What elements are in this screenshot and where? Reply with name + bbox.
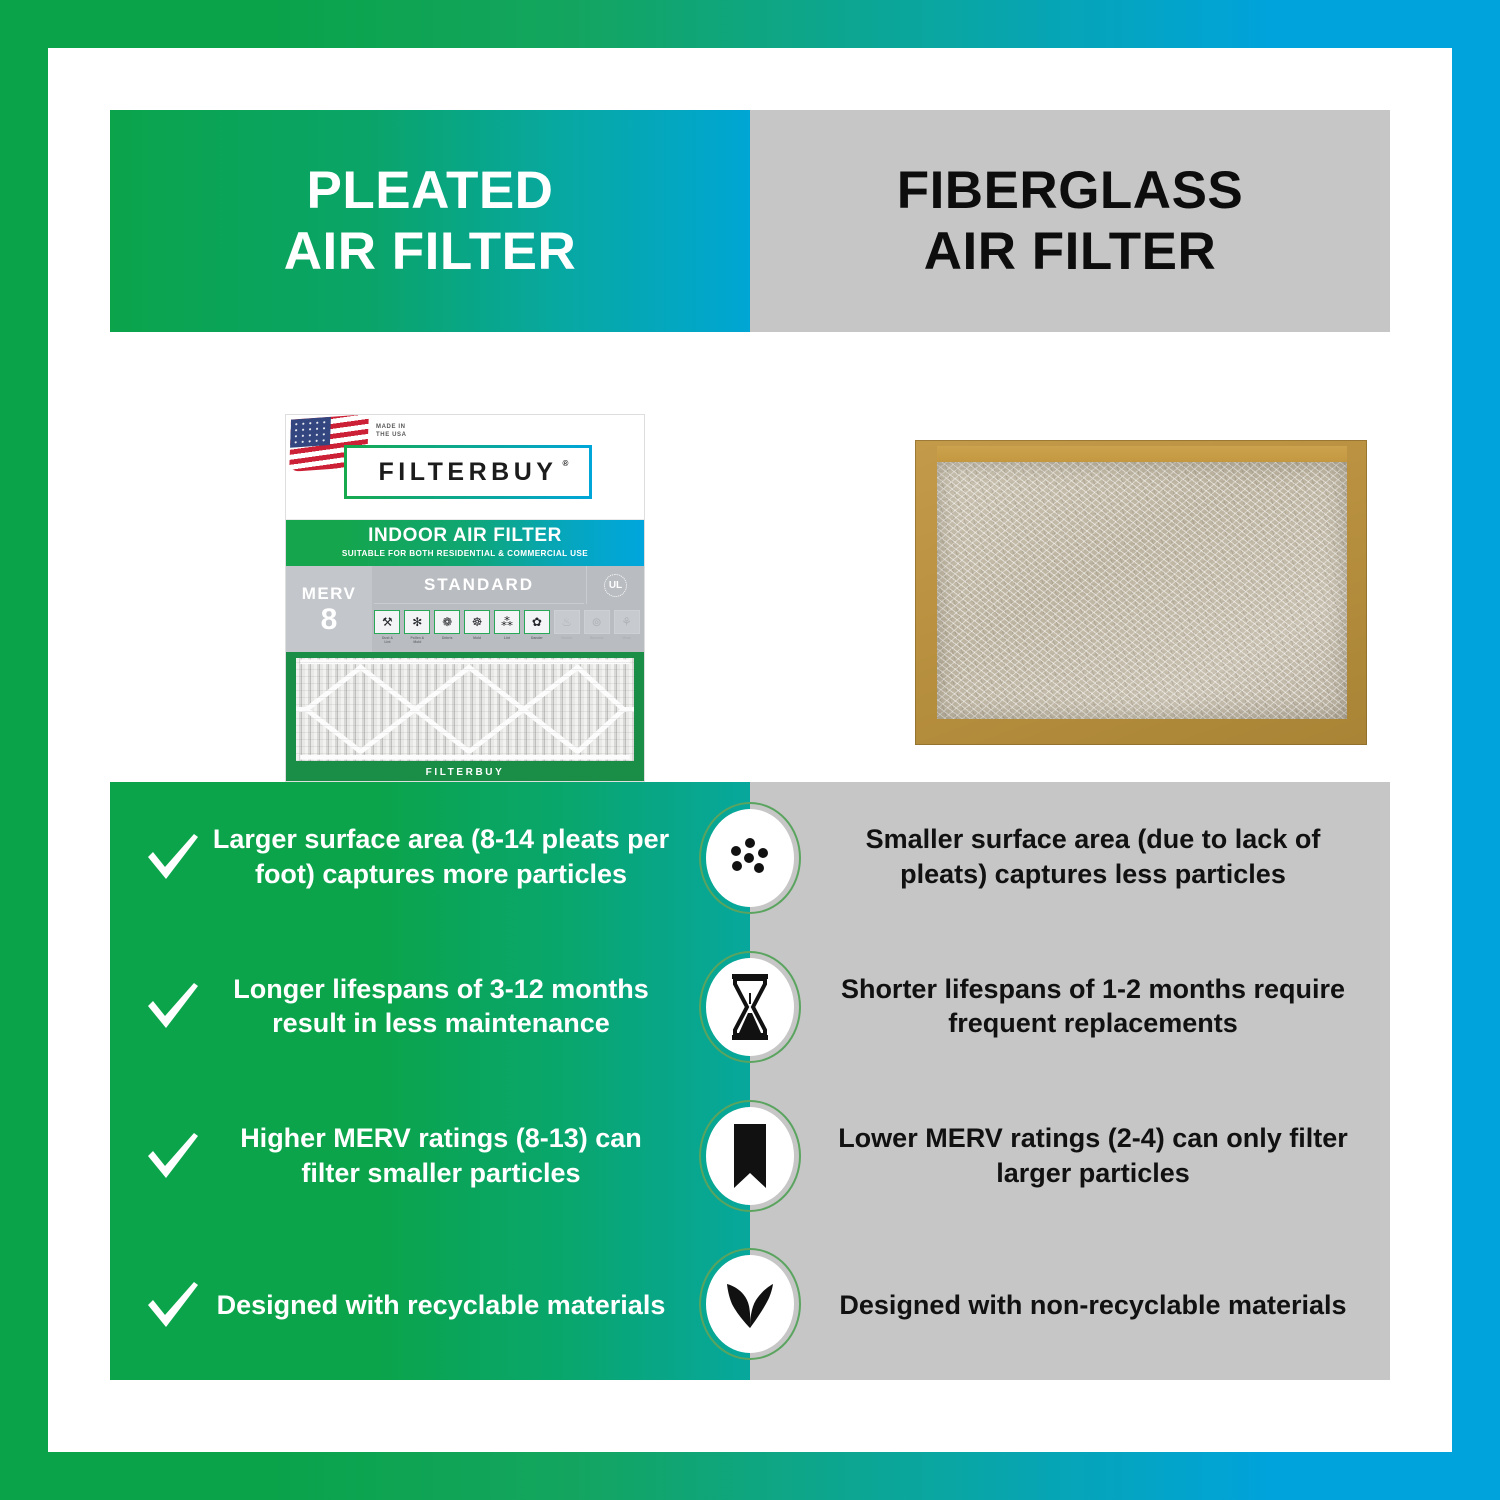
check-glyph (140, 1124, 204, 1188)
merv-label: MERV (302, 584, 356, 604)
virus-icon: ⚘ (614, 610, 640, 634)
registered-mark: ® (563, 459, 569, 468)
ul-certification-cell: UL (586, 566, 644, 604)
pleated-filter-card: MADE IN THE USA FILTERBUY® INDOOR AIR FI… (285, 414, 645, 782)
capability-caption: Dander (531, 636, 543, 640)
capability-caption: Dust & Lint (382, 636, 393, 645)
benefits-comparison: Larger surface area (8-14 pleats per foo… (110, 782, 1390, 1380)
header-fiberglass-title: FIBERGLASS AIR FILTER (897, 160, 1244, 283)
smoke-icon: ♨ (554, 610, 580, 634)
ul-listed-icon: UL (604, 574, 627, 597)
dust-mites-icon: ⁂ (494, 610, 520, 634)
capability-caption: Smoke (561, 636, 572, 640)
benefit-right-text: Smaller surface area (due to lack of ple… (830, 822, 1356, 891)
footer-brand-text: FILTERBUY (426, 767, 505, 778)
check-glyph (140, 825, 204, 889)
capability-caption: Bacteria (590, 636, 603, 640)
merv-value: 8 (321, 605, 338, 635)
check-icon (140, 1124, 204, 1188)
grade-label: STANDARD (424, 575, 534, 595)
capability-caption: Mold (473, 636, 481, 640)
bacteria-icon: ❁ (434, 610, 460, 634)
capability-item: ⁂ Lint (494, 610, 521, 640)
capability-item: ✻ Pollen & Mold (404, 610, 431, 645)
filterbuy-logo: FILTERBUY® (344, 445, 592, 499)
pleat-texture (296, 658, 634, 761)
benefit-row: Smaller surface area (due to lack of ple… (750, 782, 1390, 932)
fiberglass-media-texture (937, 462, 1347, 719)
fiberglass-filter-image (915, 440, 1367, 745)
bookmark-glyph (730, 1121, 770, 1191)
benefit-row: Larger surface area (8-14 pleats per foo… (110, 782, 750, 932)
pleated-footer-brand: FILTERBUY (286, 763, 644, 781)
benefit-right-text: Shorter lifespans of 1-2 months require … (830, 972, 1356, 1041)
benefit-row: Designed with non-recyclable materials (750, 1231, 1390, 1381)
capability-item: ♨ Smoke (553, 610, 580, 640)
infographic-root: PLEATED AIR FILTER FIBERGLASS AIR FILTER… (0, 0, 1500, 1500)
benefit-row: Longer lifespans of 3-12 months result i… (110, 932, 750, 1082)
benefit-left-text: Larger surface area (8-14 pleats per foo… (210, 822, 672, 891)
bacteria-virus-icon: ⊚ (584, 610, 610, 634)
capability-caption: Virus (622, 636, 630, 640)
capability-caption: Pollen & Mold (411, 636, 425, 645)
capability-caption: Debris (442, 636, 453, 640)
benefit-right-text: Lower MERV ratings (2-4) can only filter… (830, 1121, 1356, 1190)
filterbuy-wordmark: FILTERBUY® (379, 458, 558, 487)
benefit-right-text: Designed with non-recyclable materials (830, 1288, 1356, 1323)
support-wire-overlay (296, 658, 634, 761)
hourglass-icon (699, 951, 801, 1063)
header-pleated-panel: PLEATED AIR FILTER (110, 110, 750, 332)
check-icon (140, 974, 204, 1038)
leaf-recycle-icon (699, 1248, 801, 1360)
benefit-left-text: Longer lifespans of 3-12 months result i… (210, 972, 672, 1041)
benefit-row: Designed with recyclable materials (110, 1231, 750, 1381)
pet-dander-icon: ✿ (524, 610, 550, 634)
indoor-air-filter-band: INDOOR AIR FILTER SUITABLE FOR BOTH RESI… (286, 520, 644, 566)
benefit-left-text: Designed with recyclable materials (210, 1288, 672, 1323)
benefit-left-text: Higher MERV ratings (8-13) can filter sm… (210, 1121, 672, 1190)
capability-icon-strip: ⚒ Dust & Lint ✻ Pollen & Mold ❁ Debris (374, 608, 640, 650)
flag-canton (290, 417, 331, 448)
check-glyph (140, 1273, 204, 1337)
check-icon (140, 1273, 204, 1337)
pleated-card-top: MADE IN THE USA FILTERBUY® (286, 415, 644, 520)
benefit-row: Shorter lifespans of 1-2 months require … (750, 932, 1390, 1082)
brand-name: FILTERBUY (379, 458, 558, 486)
dust-lint-icon: ⚒ (374, 610, 400, 634)
mold-spores-icon: ☸ (464, 610, 490, 634)
benefits-right-rows: Smaller surface area (due to lack of ple… (750, 782, 1390, 1380)
infographic-canvas: PLEATED AIR FILTER FIBERGLASS AIR FILTER… (48, 48, 1452, 1452)
pleated-media-area: FILTERBUY (286, 652, 644, 781)
leaf-glyph (718, 1272, 782, 1336)
bookmark-icon (699, 1100, 801, 1212)
benefits-left-rows: Larger surface area (8-14 pleats per foo… (110, 782, 750, 1380)
comparison-header: PLEATED AIR FILTER FIBERGLASS AIR FILTER (110, 110, 1390, 332)
benefit-row: Higher MERV ratings (8-13) can filter sm… (110, 1081, 750, 1231)
merv-rating-cell: MERV 8 (286, 566, 372, 652)
merv-spec-strip: MERV 8 STANDARD UL ⚒ Dust & Lint (286, 566, 644, 652)
capability-item: ⚘ Virus (613, 610, 640, 640)
product-image-row: MADE IN THE USA FILTERBUY® INDOOR AIR FI… (110, 332, 1390, 782)
capability-item: ❁ Debris (434, 610, 461, 640)
check-glyph (140, 974, 204, 1038)
header-pleated-title: PLEATED AIR FILTER (284, 160, 577, 283)
capability-item: ✿ Dander (523, 610, 550, 640)
capability-item: ⚒ Dust & Lint (374, 610, 401, 645)
capability-item: ☸ Mold (464, 610, 491, 640)
benefit-row: Lower MERV ratings (2-4) can only filter… (750, 1081, 1390, 1231)
capability-caption: Lint (504, 636, 510, 640)
particles-icon (699, 802, 801, 914)
grade-cell: STANDARD (374, 566, 584, 604)
pleated-filter-image: MADE IN THE USA FILTERBUY® INDOOR AIR FI… (285, 414, 645, 782)
band-subtitle: SUITABLE FOR BOTH RESIDENTIAL & COMMERCI… (286, 549, 644, 558)
check-icon (140, 825, 204, 889)
pollen-icon: ✻ (404, 610, 430, 634)
hourglass-glyph (722, 971, 778, 1043)
particles-glyph (719, 827, 781, 889)
header-fiberglass-panel: FIBERGLASS AIR FILTER (750, 110, 1390, 332)
benefits-pleated-column: Larger surface area (8-14 pleats per foo… (110, 782, 750, 1380)
made-in-usa-label: MADE IN THE USA (376, 423, 407, 439)
capability-item: ⊚ Bacteria (583, 610, 610, 640)
band-title: INDOOR AIR FILTER (286, 525, 644, 547)
benefits-fiberglass-column: Smaller surface area (due to lack of ple… (750, 782, 1390, 1380)
